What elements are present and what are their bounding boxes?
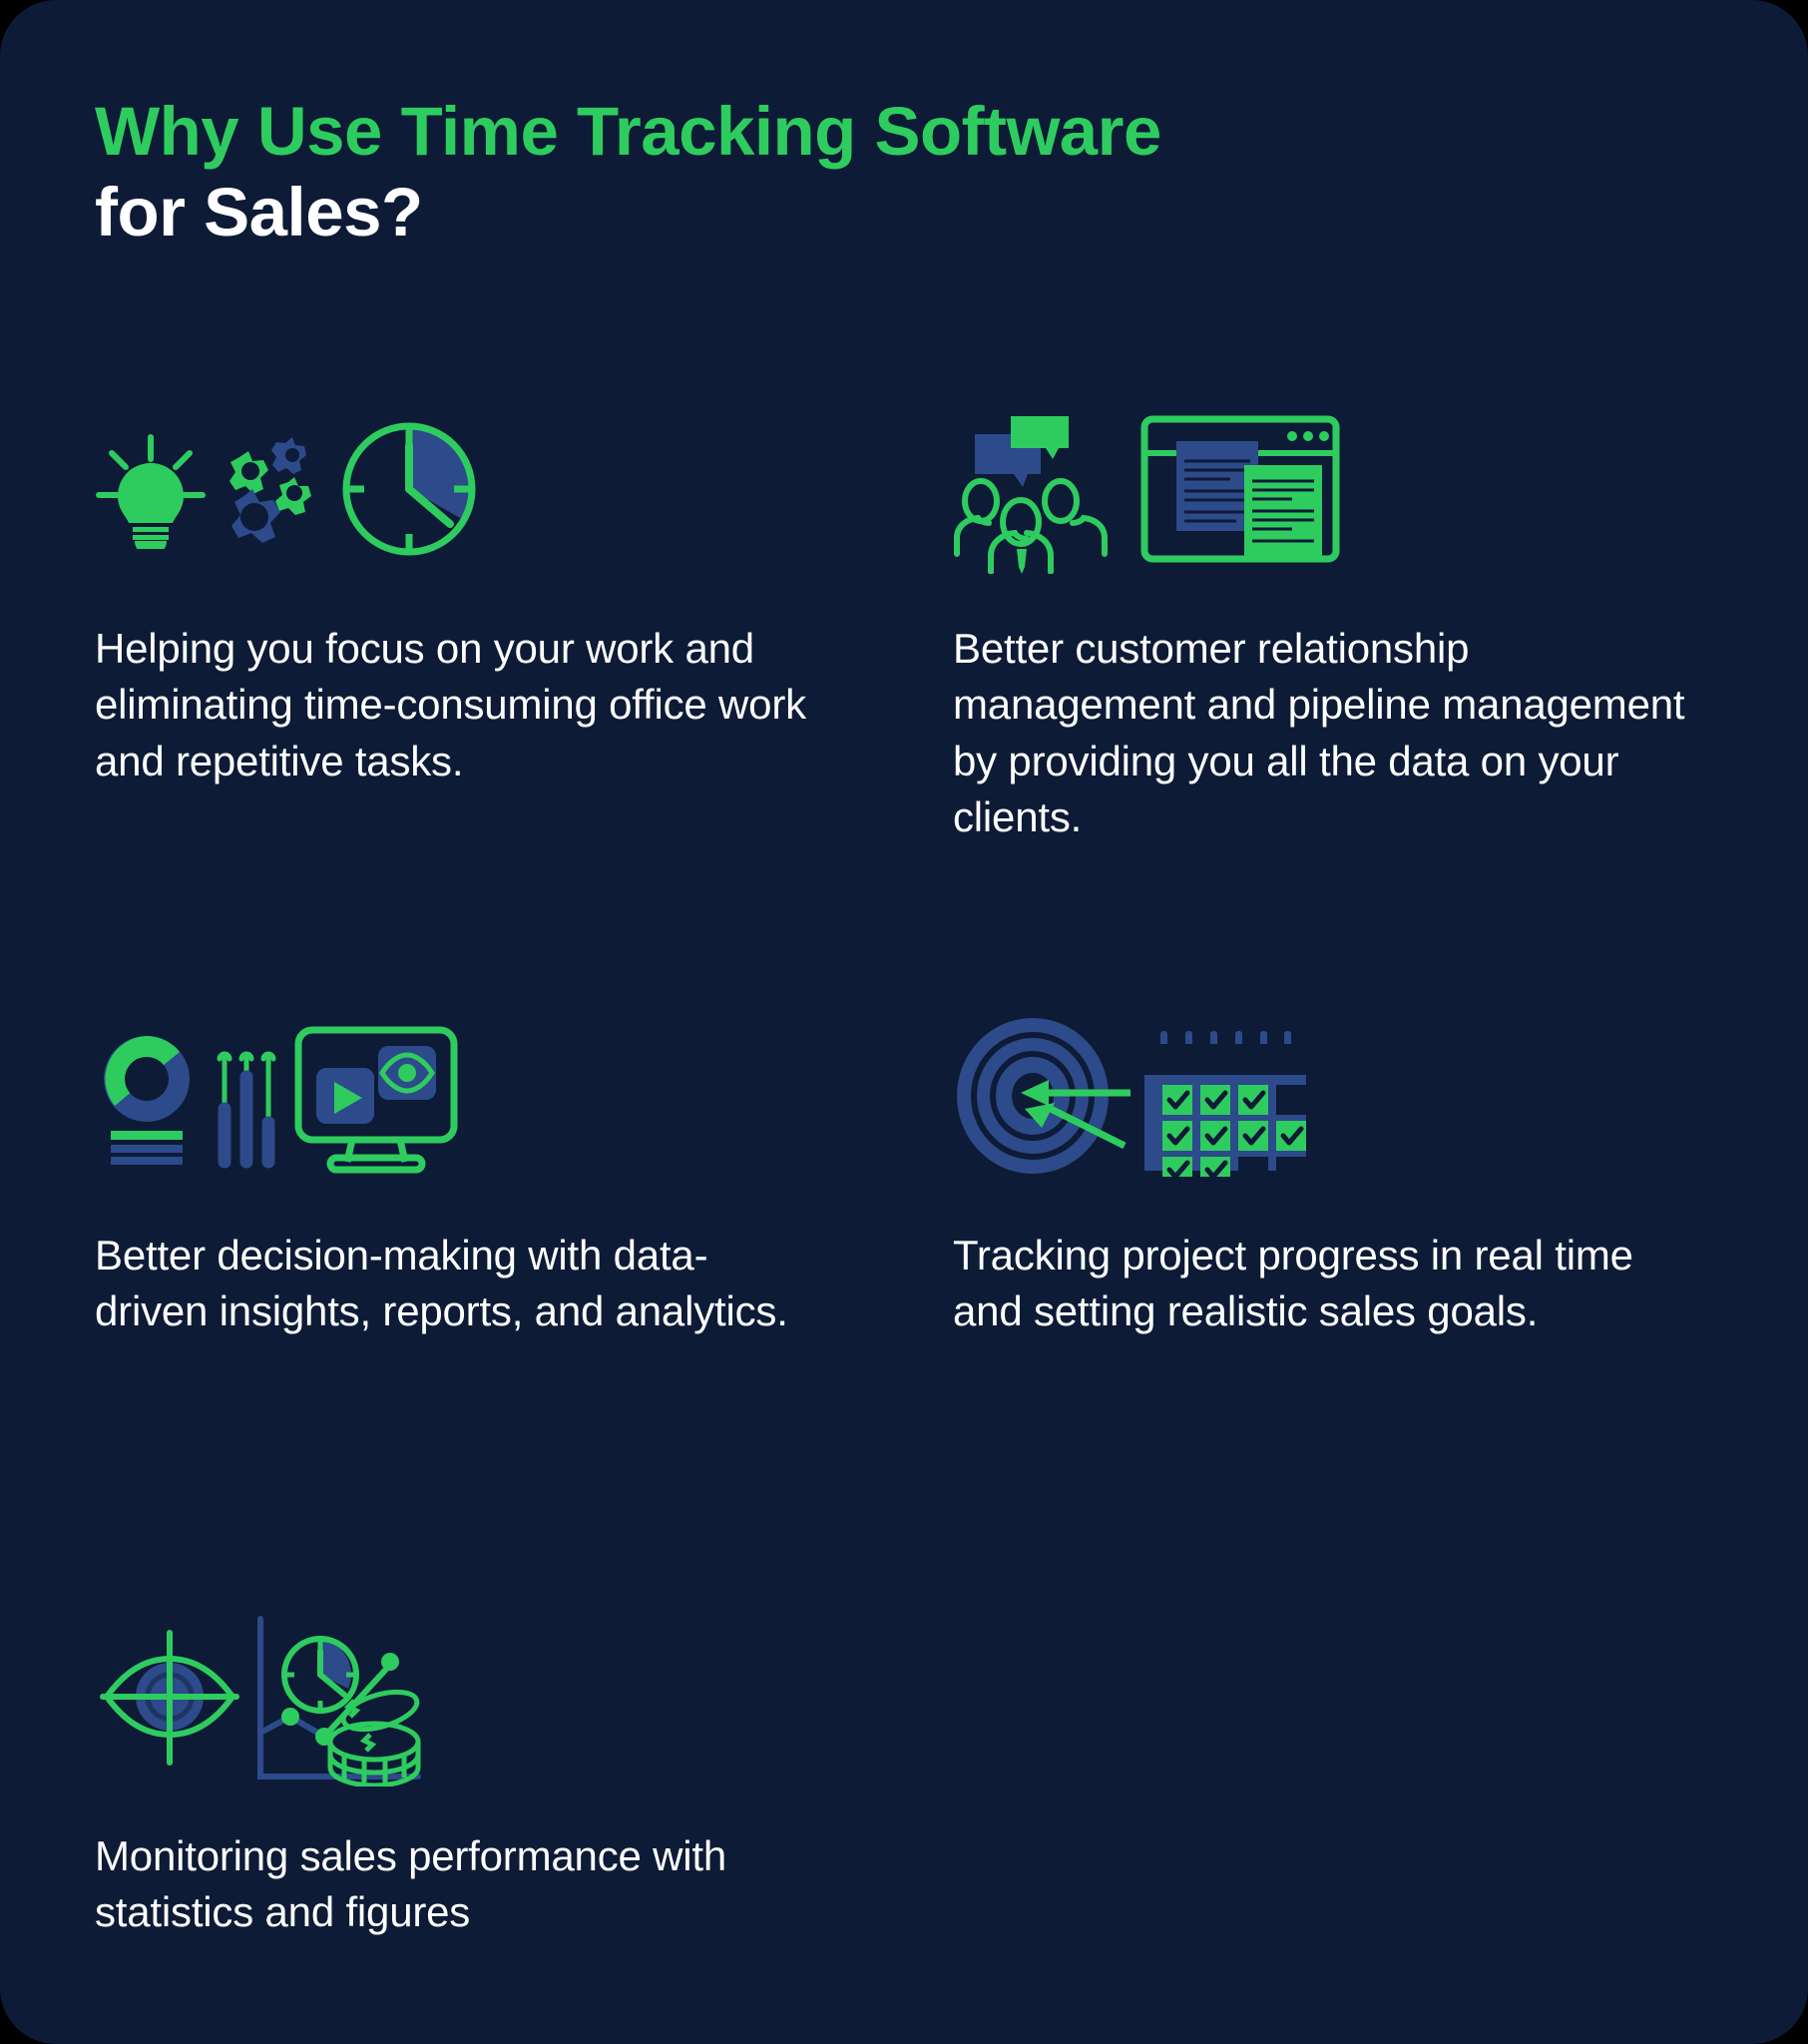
target-arrows-icon [953, 1014, 1130, 1179]
gears-icon [215, 429, 326, 549]
benefit-description: Tracking project progress in real time a… [953, 1228, 1691, 1340]
clock-chart-coins-icon [252, 1607, 428, 1787]
calendar-checks-icon [1138, 1015, 1310, 1177]
page-title: Why Use Time Tracking Software for Sales… [95, 92, 1591, 253]
benefit-item-customer-relationship: Better customer relationship management … [953, 399, 1711, 845]
people-speech-bubbles-icon [953, 404, 1132, 574]
lightbulb-icon [95, 429, 207, 549]
benefit-icons [953, 1006, 1711, 1186]
benefit-item-monitoring-performance: Monitoring sales performance with statis… [95, 1607, 853, 1941]
benefit-icons [953, 399, 1711, 579]
eye-crosshair-icon [95, 1617, 244, 1777]
benefit-icons [95, 399, 853, 579]
clock-icon [334, 414, 484, 564]
benefit-icons [95, 1006, 853, 1186]
page-title-line-2: for Sales? [95, 173, 1591, 254]
bar-levels-icon [213, 1021, 282, 1171]
benefit-description: Better customer relationship management … [953, 621, 1691, 845]
benefit-item-decision-making: Better decision-making with data-driven … [95, 1006, 853, 1340]
benefit-description: Helping you focus on your work and elimi… [95, 621, 813, 789]
benefit-icons [95, 1607, 853, 1787]
donut-chart-icon [95, 1021, 205, 1171]
benefit-description: Monitoring sales performance with statis… [95, 1828, 813, 1941]
page-title-line-1: Why Use Time Tracking Software [95, 92, 1591, 173]
infographic-card: Why Use Time Tracking Software for Sales… [0, 0, 1808, 2044]
browser-documents-icon [1140, 409, 1340, 569]
benefit-description: Better decision-making with data-driven … [95, 1228, 813, 1340]
benefit-item-focus-work: Helping you focus on your work and elimi… [95, 399, 853, 789]
benefit-item-project-progress: Tracking project progress in real time a… [953, 1006, 1711, 1340]
monitor-play-eye-icon [290, 1016, 462, 1176]
